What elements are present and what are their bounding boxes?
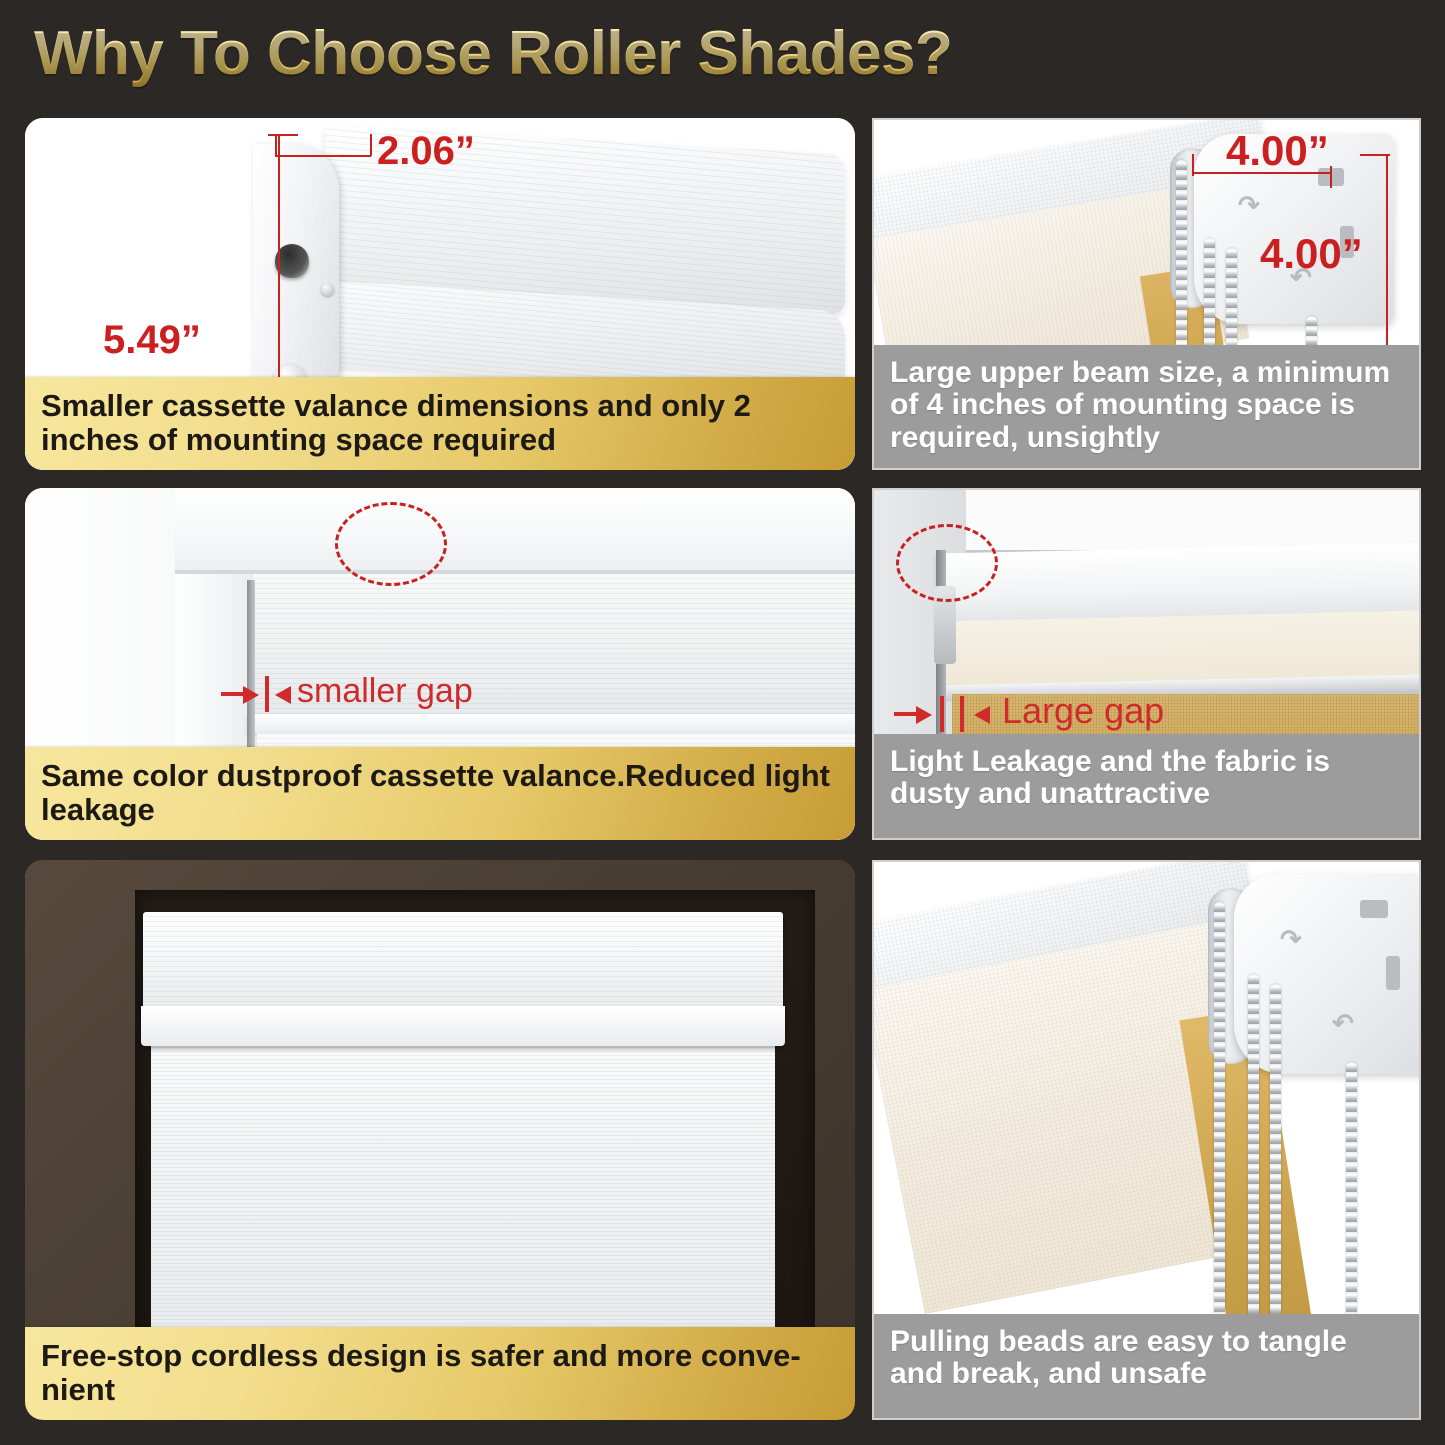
gap-arrow-tail-left <box>894 712 916 716</box>
beam-dim-label-height: 4.00” <box>1260 230 1363 278</box>
bracket-slot-2 <box>1386 956 1400 990</box>
dashed-circle-icon <box>335 502 447 586</box>
beam-dim-tick-right <box>1330 166 1332 188</box>
panel-5-cordless-design: Free-stop cordless design is safer and m… <box>25 860 855 1420</box>
infographic-page: Why To Choose Roller Shades? 2.06” 5.49”… <box>0 0 1445 1445</box>
panel-3-caption: Same color dustproof cassette valance.Re… <box>25 747 855 840</box>
shade-fabric <box>151 1042 775 1348</box>
bracket-arrow-glyph-2: ↶ <box>1332 1008 1354 1039</box>
dim-tick-left <box>275 134 277 156</box>
gap-arrow-right-icon <box>243 686 259 704</box>
gap-marker-1 <box>940 696 944 732</box>
beam-dim-line-height <box>1386 154 1388 350</box>
bracket-arrow-glyph-1: ↷ <box>1238 190 1260 221</box>
panel-4-light-leakage: Large gap Light Leakage and the fabric i… <box>872 488 1421 840</box>
beam-dim-tick-left <box>1192 154 1194 176</box>
panel-2-large-beam: ↷ ↶ 4.00” 4.00” Large upper beam size, a… <box>872 118 1421 470</box>
bead-chain-2 <box>1248 974 1259 1324</box>
gap-arrow-left-icon <box>974 706 990 724</box>
dim-tick-top <box>268 134 298 136</box>
dim-line-width <box>275 155 371 157</box>
page-title: Why To Choose Roller Shades? <box>34 18 952 89</box>
panel-5-caption: Free-stop cordless design is safer and m… <box>25 1327 855 1420</box>
window-head-trim <box>175 488 855 574</box>
panel-6-caption: Pulling beads are easy to tangle and bre… <box>874 1314 1419 1418</box>
mounting-bracket: ↷ ↶ <box>1234 874 1419 1074</box>
panel-1-caption: Smaller cassette valance dimensions and … <box>25 377 855 470</box>
bracket-slot-1 <box>1360 900 1388 918</box>
dim-label-height: 5.49” <box>103 318 201 363</box>
panel-2-caption: Large upper beam size, a minimum of 4 in… <box>874 345 1419 468</box>
middle-rail <box>247 714 855 734</box>
bead-chain-1 <box>1214 902 1225 1322</box>
gap-arrow-right-icon <box>916 706 932 724</box>
gap-arrow-tail-left <box>221 692 243 696</box>
gap-marker <box>265 676 269 712</box>
dashed-circle-icon <box>896 524 998 602</box>
panel-1-smaller-cassette: 2.06” 5.49” Smaller cassette valance dim… <box>25 118 855 470</box>
bead-chain-3 <box>1270 984 1281 1324</box>
valance-screw <box>321 283 334 296</box>
bead-chain-4 <box>1346 1062 1357 1324</box>
dim-tick-right <box>370 134 372 156</box>
bracket-arrow-glyph-1: ↷ <box>1280 924 1302 955</box>
gap-label: smaller gap <box>297 672 473 711</box>
gap-label: Large gap <box>1002 690 1164 732</box>
header: Why To Choose Roller Shades? <box>0 0 1445 108</box>
gap-arrow-left-icon <box>275 686 291 704</box>
beam-dim-tick-top <box>1360 154 1390 156</box>
panel-6-pulling-beads: ↷ ↶ Pulling beads are easy to tangle and… <box>872 860 1421 1420</box>
cassette-lip <box>141 1006 785 1046</box>
beam-dim-label-width: 4.00” <box>1226 127 1329 175</box>
panel-3-dustproof-cassette: smaller gap Same color dustproof cassett… <box>25 488 855 840</box>
dim-label-width: 2.06” <box>377 129 475 174</box>
panel-4-caption: Light Leakage and the fabric is dusty an… <box>874 734 1419 838</box>
gap-marker-2 <box>960 696 964 732</box>
